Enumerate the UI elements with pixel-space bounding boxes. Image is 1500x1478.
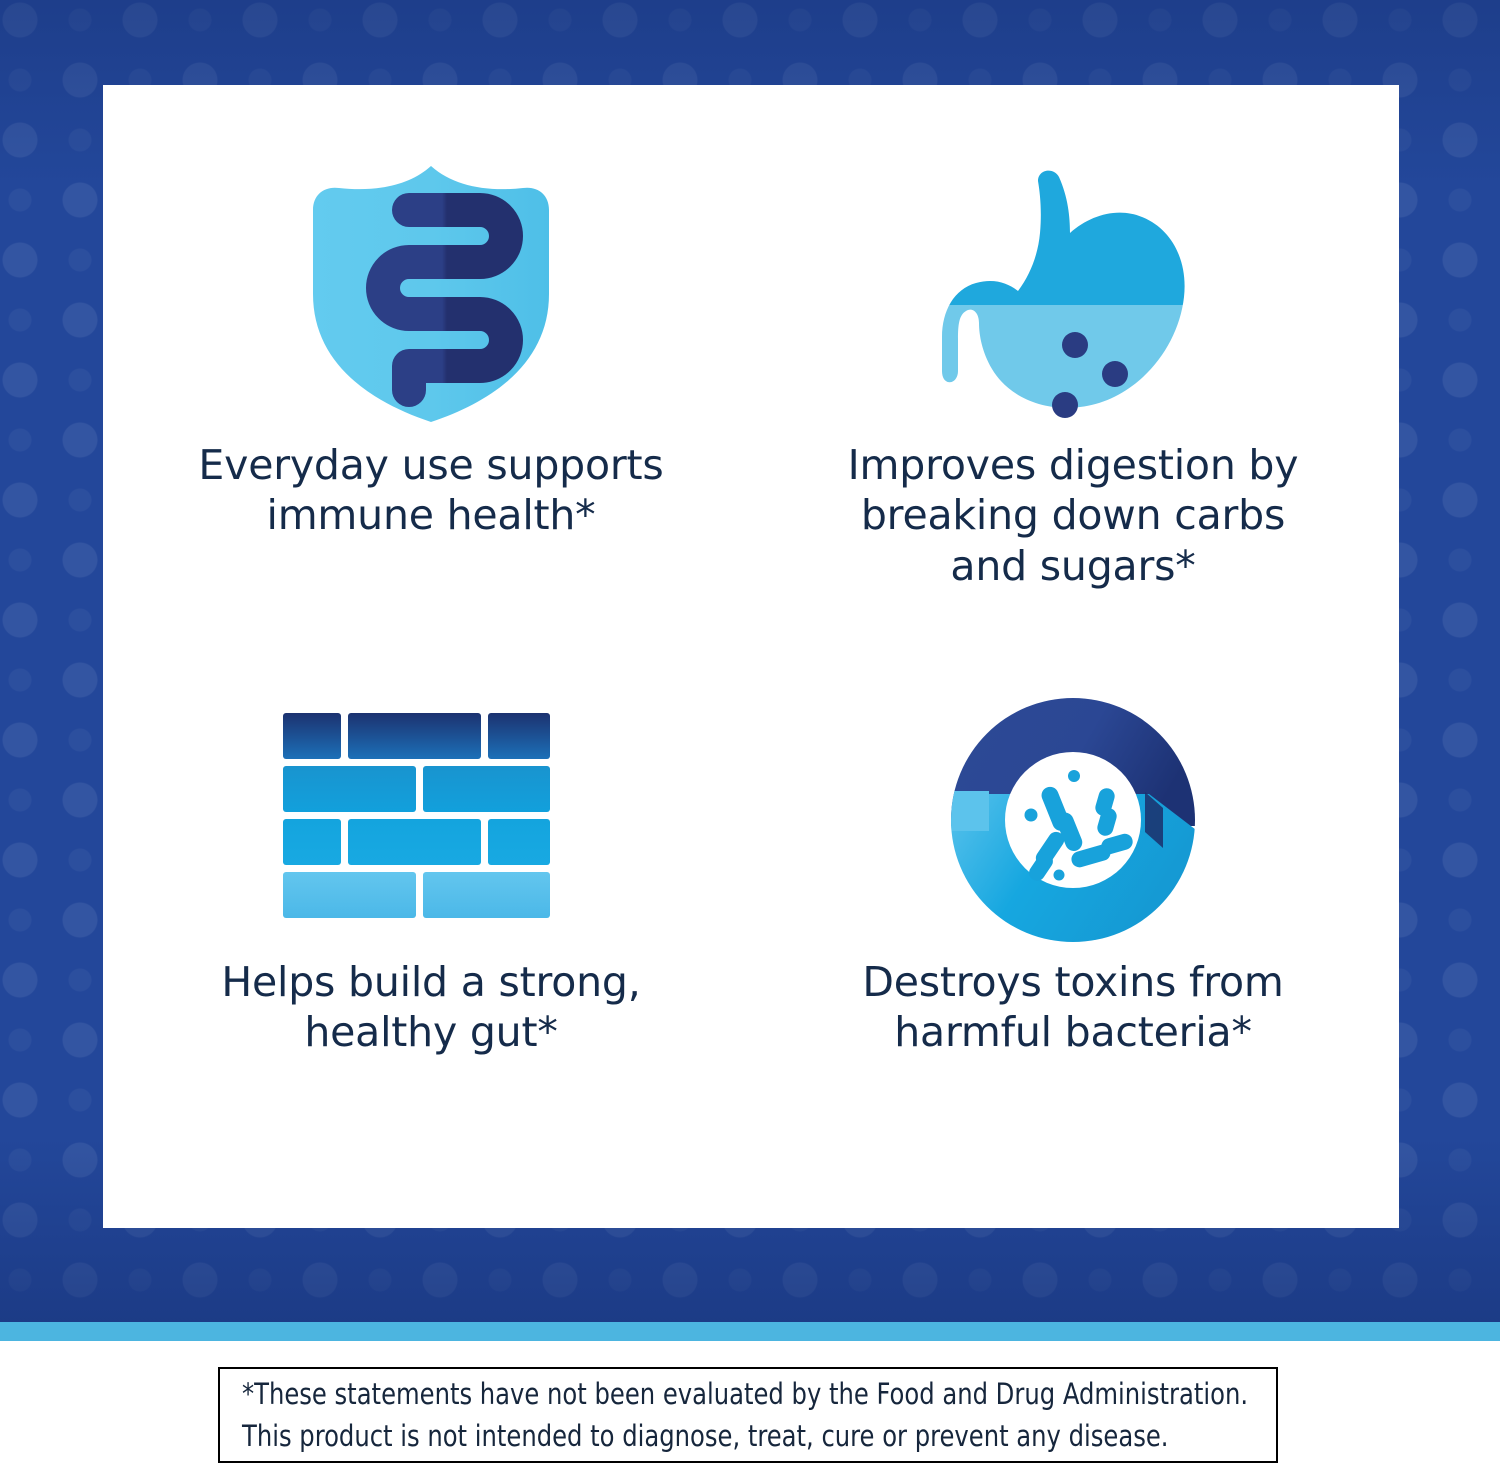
- benefits-grid: Everyday use supports immune health*: [103, 85, 1399, 1228]
- brick-wall-icon-svg: [281, 711, 581, 929]
- bacteria-circle-icon: [803, 695, 1343, 945]
- shield-intestine-icon: [161, 160, 701, 428]
- benefit-caption: Destroys toxins from harmful bacteria*: [803, 957, 1343, 1058]
- benefit-item-immune: Everyday use supports immune health*: [161, 160, 701, 541]
- disclaimer-line-2: This product is not intended to diagnose…: [242, 1415, 1183, 1457]
- white-content-panel: Everyday use supports immune health*: [103, 85, 1399, 1228]
- benefit-caption: Improves digestion by breaking down carb…: [803, 440, 1343, 591]
- brick-wall-icon: [161, 695, 701, 945]
- disclaimer-line-1: *These statements have not been evaluate…: [242, 1373, 1183, 1415]
- brick-row-1: [283, 713, 550, 759]
- shield-intestine-icon-svg: [305, 164, 557, 424]
- benefit-item-gut-barrier: Helps build a strong, healthy gut*: [161, 695, 701, 1058]
- benefit-caption: Helps build a strong, healthy gut*: [161, 957, 701, 1058]
- infographic-root: Everyday use supports immune health*: [0, 0, 1500, 1478]
- benefit-caption: Everyday use supports immune health*: [161, 440, 701, 541]
- stomach-icon-svg: [942, 163, 1204, 425]
- fda-disclaimer-box: *These statements have not been evaluate…: [218, 1367, 1278, 1463]
- stomach-particle: [1052, 392, 1078, 418]
- accent-stripe: [0, 1322, 1500, 1341]
- brick-row-4: [283, 872, 550, 918]
- stomach-icon: [803, 160, 1343, 428]
- brick-row-3: [283, 819, 550, 865]
- bacteria-circle-icon-svg: [949, 696, 1197, 944]
- stomach-particle: [1062, 332, 1088, 358]
- brick-row-2: [283, 766, 550, 812]
- benefit-item-toxins: Destroys toxins from harmful bacteria*: [803, 695, 1343, 1058]
- benefit-item-digestion: Improves digestion by breaking down carb…: [803, 160, 1343, 591]
- stomach-particle: [1102, 361, 1128, 387]
